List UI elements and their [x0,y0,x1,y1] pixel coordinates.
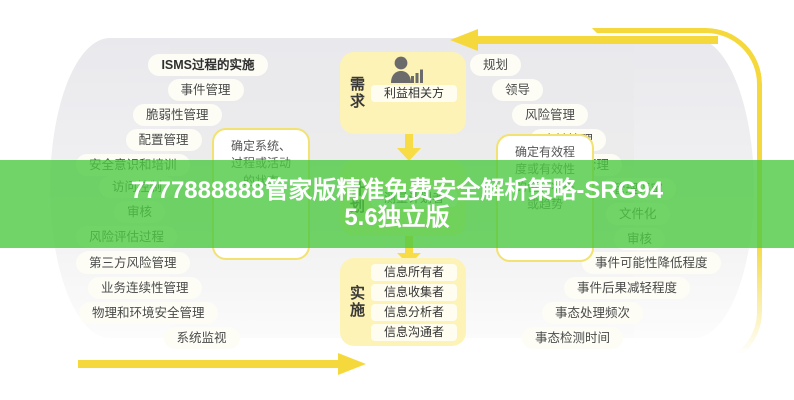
execute-card-title: 实施 [349,285,364,319]
list-item[interactable]: 事态检测时间 [522,327,623,349]
define-line-1: 确定系统、 [220,138,302,155]
watermark-overlay: 7777888888管家版精准免费安全解析策略-SRG94 5.6独立版 [0,160,794,248]
list-item[interactable]: 第三方风险管理 [76,252,190,274]
arrow-right-bottom-icon [78,352,368,376]
diagram-canvas: ISMS过程的实施 事件管理 脆弱性管理 配置管理 安全意识和培训 访问控制 审… [0,0,794,400]
list-item[interactable]: 信息收集者 [371,284,457,301]
watermark-line-1: 7777888888管家版精准免费安全解析策略-SRG94 [131,177,663,204]
execute-card-items: 信息所有者 信息收集者 信息分析者 信息沟通者 [371,264,457,341]
list-item[interactable]: 信息沟通者 [371,324,457,341]
execute-card[interactable]: 实施 信息所有者 信息收集者 信息分析者 信息沟通者 [340,258,466,346]
list-item[interactable]: ISMS过程的实施 [148,54,267,76]
right-bottom-pill-column: 事件可能性降低程度 事件后果减轻程度 事态处理频次 事态检测时间 [560,252,721,349]
list-item[interactable]: 业务连续性管理 [88,277,202,299]
demand-card-items: 利益相关方 [371,85,457,102]
list-item[interactable]: 信息分析者 [371,304,457,321]
left-bottom-pill-column: 第三方风险管理 业务连续性管理 物理和环境安全管理 系统监视 [76,252,204,349]
arrow-left-top-icon [448,28,718,52]
list-item[interactable]: 系统监视 [164,327,240,349]
list-item[interactable]: 领导 [492,79,543,101]
list-item[interactable]: 脆弱性管理 [133,104,222,126]
measure-line-1: 确定有效程 [504,144,586,161]
demand-card-title: 需求 [349,76,364,110]
list-item[interactable]: 事件管理 [168,79,244,101]
list-item[interactable]: 物理和环境安全管理 [79,302,218,324]
arrow-down-upper-icon [396,130,422,162]
watermark-line-2: 5.6独立版 [344,204,449,231]
list-item[interactable]: 风险管理 [512,104,588,126]
list-item[interactable]: 事态处理频次 [542,302,643,324]
list-item[interactable]: 配置管理 [126,129,202,151]
person-with-bars-icon [386,56,426,84]
list-item[interactable]: 信息所有者 [371,264,457,281]
list-item[interactable]: 事件后果减轻程度 [564,277,690,299]
list-item[interactable]: 利益相关方 [371,85,457,102]
list-item[interactable]: 规划 [470,54,521,76]
list-item[interactable]: 事件可能性降低程度 [582,252,721,274]
left-top-pill-column: ISMS过程的实施 事件管理 脆弱性管理 配置管理 安全意识和培训 [76,54,206,176]
